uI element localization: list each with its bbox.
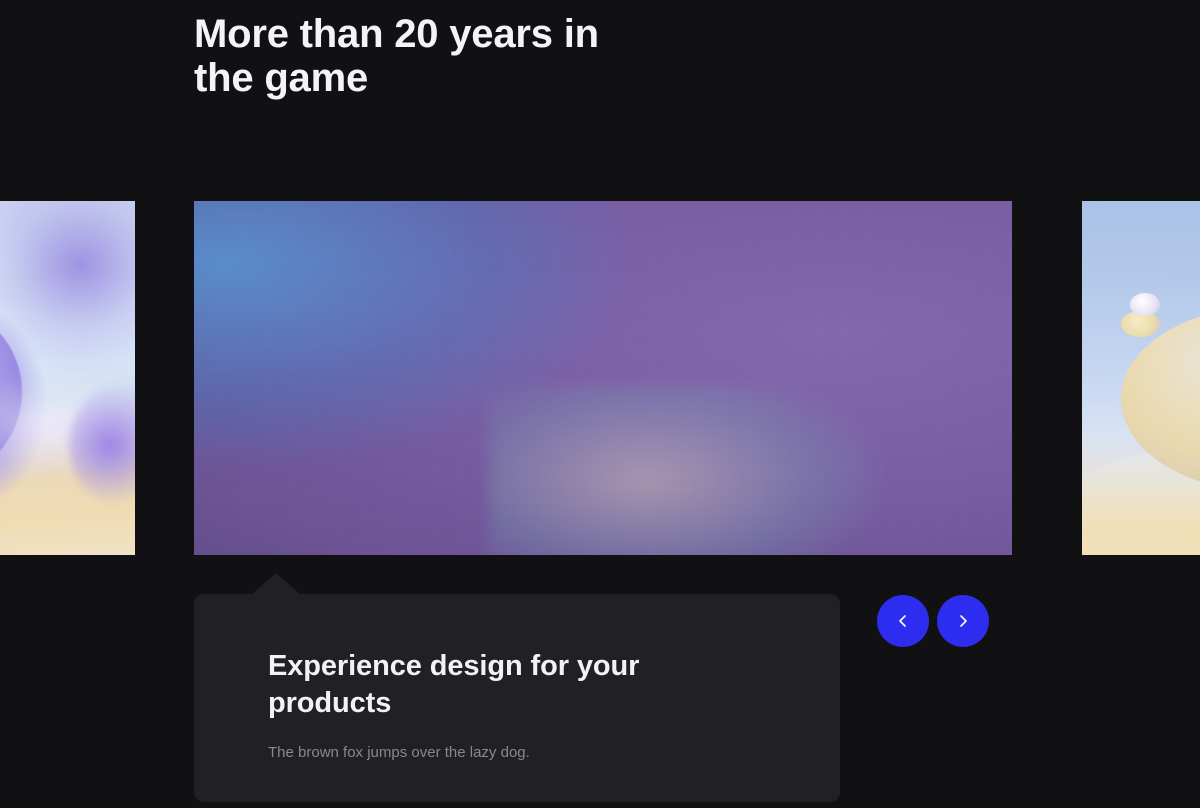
- chevron-left-icon: [895, 613, 911, 629]
- caption-subtitle: The brown fox jumps over the lazy dog.: [268, 743, 766, 763]
- carousel-slide-previous[interactable]: [0, 201, 135, 555]
- carousel-next-button[interactable]: [937, 595, 989, 647]
- pastel-cream-sphere-artwork: [1082, 201, 1200, 555]
- carousel-caption-card: Experience design for your products The …: [194, 594, 840, 802]
- carousel: [0, 201, 1200, 555]
- purple-blue-fan-artwork: [194, 201, 1012, 555]
- chevron-right-icon: [955, 613, 971, 629]
- caption-title: Experience design for your products: [268, 648, 708, 722]
- pastel-lavender-sphere-artwork: [0, 201, 135, 555]
- grain-overlay: [194, 201, 1012, 555]
- carousel-slide-next[interactable]: [1082, 201, 1200, 555]
- caption-pointer-triangle: [252, 573, 300, 594]
- carousel-slide-active[interactable]: [194, 201, 1012, 555]
- small-sphere-shape-1: [1130, 293, 1160, 316]
- carousel-navigation: [877, 595, 989, 647]
- carousel-previous-button[interactable]: [877, 595, 929, 647]
- section-heading: More than 20 years in the game: [194, 12, 794, 100]
